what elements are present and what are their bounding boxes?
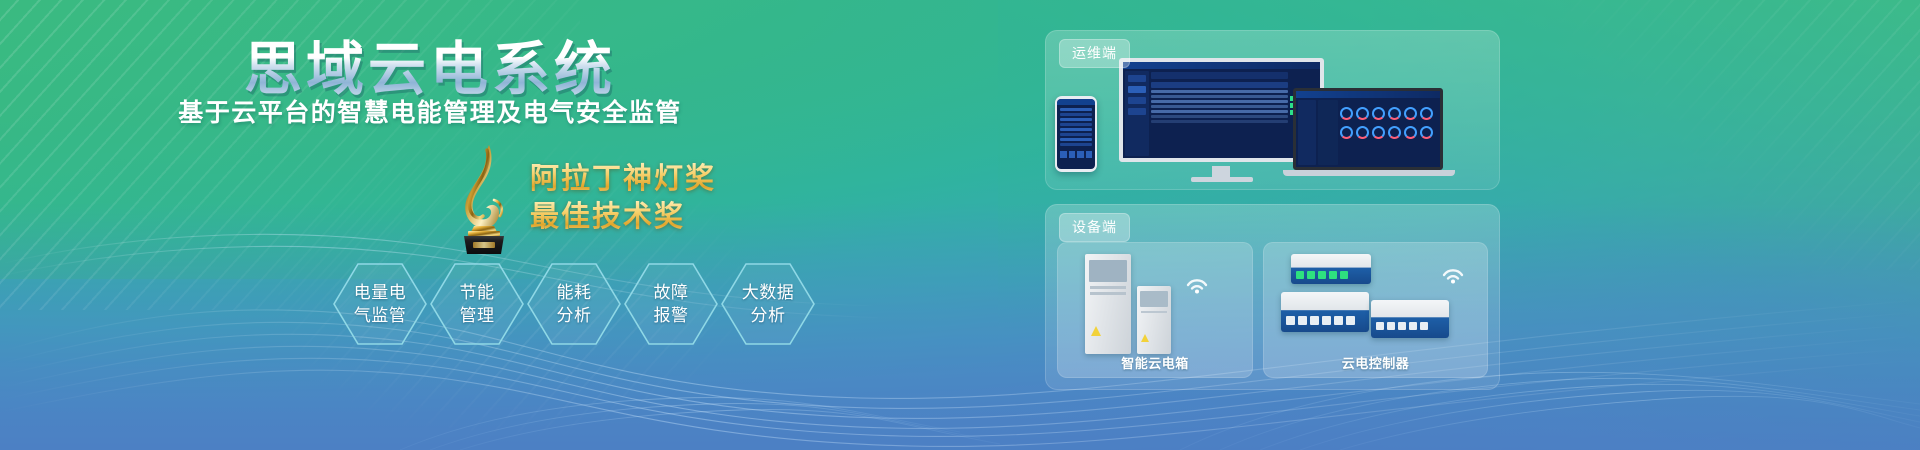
left-content-column: 思域云电系统 基于云平台的智慧电能管理及电气安全监管 bbox=[0, 0, 860, 450]
equipment-caption-1: 云电控制器 bbox=[1263, 353, 1488, 372]
monitor-data-table bbox=[1151, 82, 1288, 148]
warning-icon bbox=[1091, 326, 1101, 336]
feature-tag-list: 电量电 气监管 节能 管理 能耗 分析 bbox=[332, 262, 832, 352]
award-text-block: 阿拉丁神灯奖 最佳技术奖 bbox=[530, 160, 716, 236]
feature-tag-1[interactable]: 节能 管理 bbox=[429, 262, 525, 346]
laptop-base bbox=[1283, 170, 1455, 176]
feature-tag-label-1: 节能 管理 bbox=[460, 281, 495, 327]
feature-tag-line2: 气监管 bbox=[354, 306, 407, 325]
right-panels-column: 运维端 bbox=[1045, 30, 1500, 420]
controller-icon-2 bbox=[1281, 292, 1369, 332]
wifi-icon bbox=[1183, 270, 1211, 294]
feature-tag-line1: 故障 bbox=[654, 283, 689, 302]
feature-tag-label-3: 故障 报警 bbox=[654, 281, 689, 327]
feature-tag-line2: 分析 bbox=[557, 306, 592, 325]
controller-icon-3 bbox=[1371, 300, 1449, 338]
feature-tag-label-2: 能耗 分析 bbox=[557, 281, 592, 327]
feature-tag-line1: 能耗 bbox=[557, 283, 592, 302]
feature-tag-0[interactable]: 电量电 气监管 bbox=[332, 262, 428, 346]
phone-device bbox=[1055, 96, 1097, 172]
feature-tag-line1: 节能 bbox=[460, 283, 495, 302]
controller-icon bbox=[1291, 254, 1371, 284]
feature-tag-line2: 报警 bbox=[654, 306, 689, 325]
equipment-panel: 设备端 bbox=[1045, 204, 1500, 390]
feature-tag-line1: 电量电 bbox=[354, 283, 407, 302]
feature-tag-line2: 分析 bbox=[751, 306, 786, 325]
monitor-titlebar bbox=[1123, 62, 1320, 69]
laptop-screen bbox=[1293, 88, 1443, 170]
feature-tag-3[interactable]: 故障 报警 bbox=[623, 262, 719, 346]
cabinet-small-icon bbox=[1137, 286, 1171, 354]
award-line-1: 阿拉丁神灯奖 bbox=[530, 160, 716, 198]
monitor-stand-base bbox=[1191, 177, 1253, 182]
equipment-panel-tag: 设备端 bbox=[1059, 213, 1130, 242]
monitor-tabs bbox=[1151, 72, 1288, 79]
monitor-sidebar bbox=[1125, 71, 1149, 156]
equipment-item-0[interactable]: 智能云电箱 bbox=[1057, 242, 1253, 378]
feature-tag-line2: 管理 bbox=[460, 306, 495, 325]
flame-trophy-icon bbox=[448, 142, 520, 254]
equipment-item-1[interactable]: 云电控制器 bbox=[1263, 242, 1488, 378]
wifi-icon bbox=[1439, 260, 1467, 284]
page-subtitle: 基于云平台的智慧电能管理及电气安全监管 bbox=[0, 93, 860, 129]
promo-banner: 思域云电系统 基于云平台的智慧电能管理及电气安全监管 bbox=[0, 0, 1920, 450]
laptop-sidebar bbox=[1298, 100, 1316, 165]
laptop-gauge-grid bbox=[1340, 107, 1437, 153]
feature-tag-4[interactable]: 大数据 分析 bbox=[720, 262, 816, 346]
phone-screen bbox=[1057, 99, 1095, 169]
cabinet-icon bbox=[1085, 254, 1131, 354]
equipment-caption-0: 智能云电箱 bbox=[1057, 353, 1253, 372]
laptop-tree bbox=[1318, 100, 1338, 165]
feature-tag-2[interactable]: 能耗 分析 bbox=[526, 262, 622, 346]
feature-tag-label-0: 电量电 气监管 bbox=[354, 281, 407, 327]
feature-tag-line1: 大数据 bbox=[742, 283, 795, 302]
award-section: 阿拉丁神灯奖 最佳技术奖 bbox=[0, 142, 860, 254]
award-line-2: 最佳技术奖 bbox=[530, 198, 716, 236]
laptop-titlebar bbox=[1296, 91, 1440, 98]
feature-tag-label-4: 大数据 分析 bbox=[742, 281, 795, 327]
ops-panel-tag: 运维端 bbox=[1059, 39, 1130, 68]
ops-panel: 运维端 bbox=[1045, 30, 1500, 190]
